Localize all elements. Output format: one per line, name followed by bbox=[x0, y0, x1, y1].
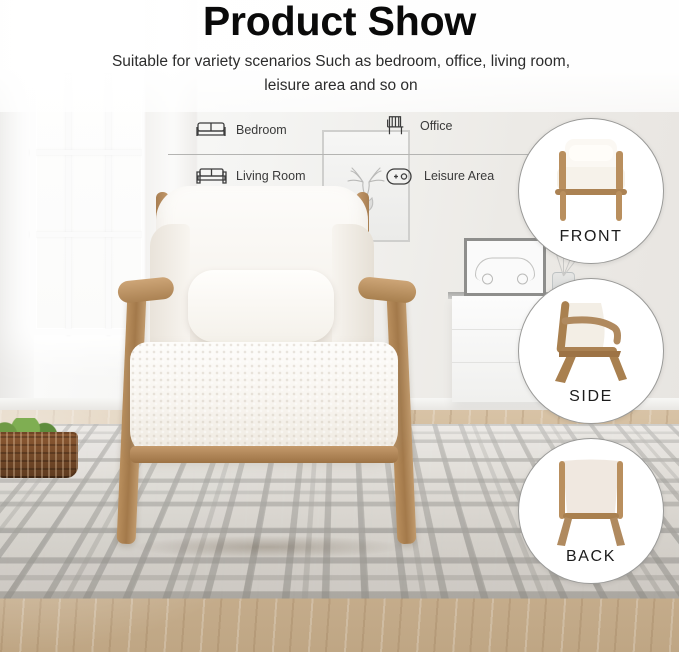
wicker-basket bbox=[0, 432, 78, 478]
leisure-icon bbox=[382, 164, 416, 188]
badge-label: FRONT bbox=[519, 228, 663, 246]
badge-label: BACK bbox=[519, 548, 663, 566]
chair-seat bbox=[130, 342, 398, 457]
back-view-illustration bbox=[519, 453, 663, 549]
scenario-item-bedroom: Bedroom bbox=[194, 118, 287, 142]
chair-stretcher bbox=[130, 446, 398, 463]
scenario-item-office: Office bbox=[378, 114, 452, 138]
side-view-illustration bbox=[519, 293, 663, 389]
car-sketch-artwork bbox=[464, 238, 546, 296]
header: Product Show Suitable for variety scenar… bbox=[0, 0, 679, 112]
scenario-item-living-room: Living Room bbox=[194, 164, 305, 188]
page-subtitle: Suitable for variety scenarios Such as b… bbox=[96, 50, 586, 98]
scenario-label: Leisure Area bbox=[424, 169, 494, 183]
scenario-label: Living Room bbox=[236, 169, 305, 183]
view-badge-front[interactable]: FRONT bbox=[518, 118, 664, 264]
scenario-label: Bedroom bbox=[236, 123, 287, 137]
view-badge-back[interactable]: BACK bbox=[518, 438, 664, 584]
sofa-icon bbox=[194, 164, 228, 188]
front-view-illustration bbox=[519, 133, 663, 229]
badge-label: SIDE bbox=[519, 388, 663, 406]
scenario-label: Office bbox=[420, 119, 452, 133]
office-chair-icon bbox=[378, 114, 412, 138]
scenario-list: Bedroom Office bbox=[150, 112, 546, 200]
scenario-item-leisure-area: Leisure Area bbox=[382, 164, 494, 188]
page-title: Product Show bbox=[0, 0, 679, 45]
view-badge-side[interactable]: SIDE bbox=[518, 278, 664, 424]
product-show-image: Product Show Suitable for variety scenar… bbox=[0, 0, 679, 652]
lumbar-pillow bbox=[188, 270, 334, 342]
scenario-divider bbox=[168, 154, 528, 155]
bed-icon bbox=[194, 118, 228, 142]
main-armchair bbox=[104, 184, 434, 556]
